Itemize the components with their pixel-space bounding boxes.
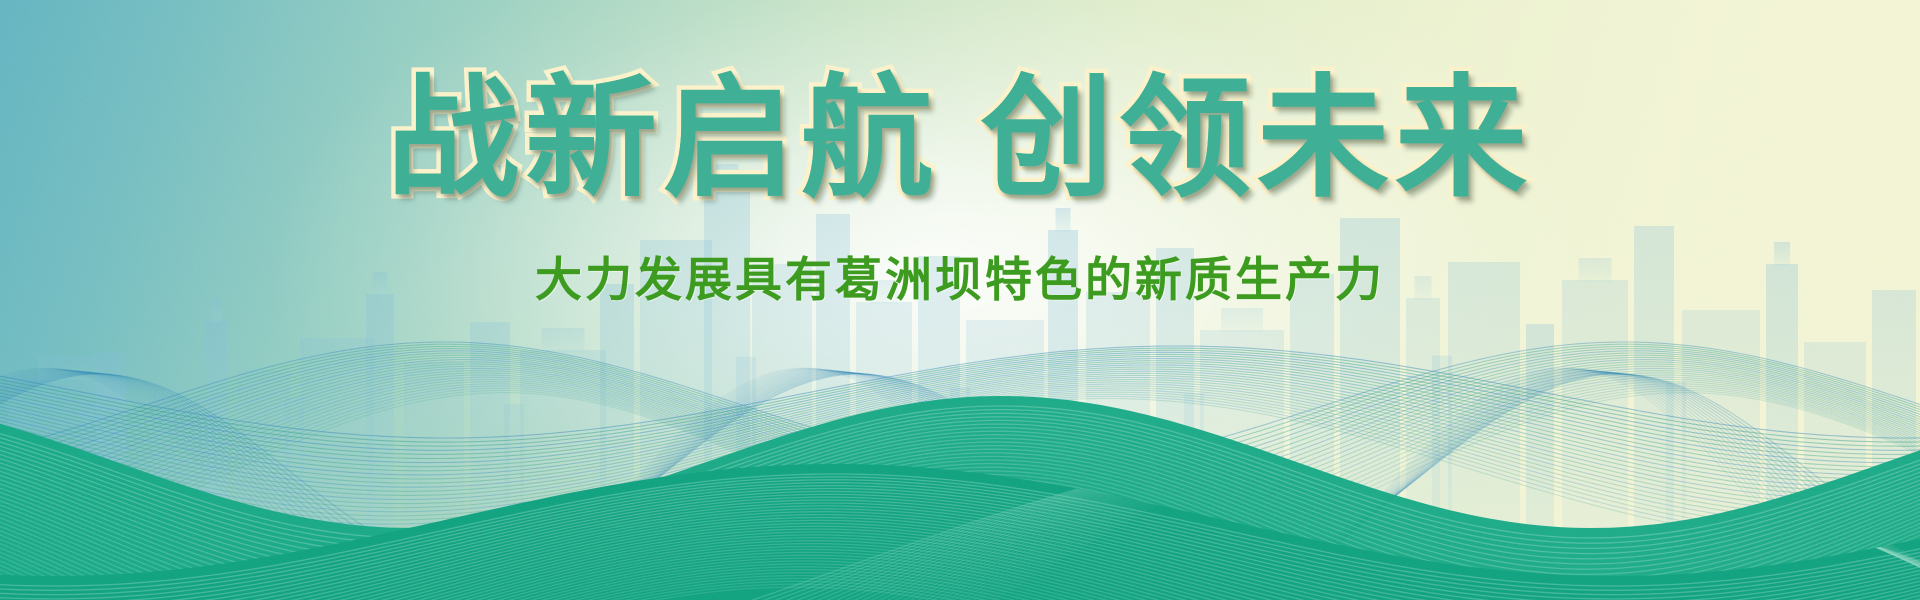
banner-headline-stroke: 战新启航创领未来: [387, 62, 1533, 216]
promo-banner: 战新启航创领未来 战新启航创领未来 大力发展具有葛洲坝特色的新质生产力 战新启航…: [0, 0, 1920, 600]
banner-text-block: 战新启航创领未来 战新启航创领未来 大力发展具有葛洲坝特色的新质生产力 战新启航…: [0, 0, 1920, 340]
banner-subheadline: 大力发展具有葛洲坝特色的新质生产力: [535, 207, 1385, 310]
banner-headline-wrapper: 战新启航创领未来 战新启航创领未来: [387, 72, 1533, 207]
